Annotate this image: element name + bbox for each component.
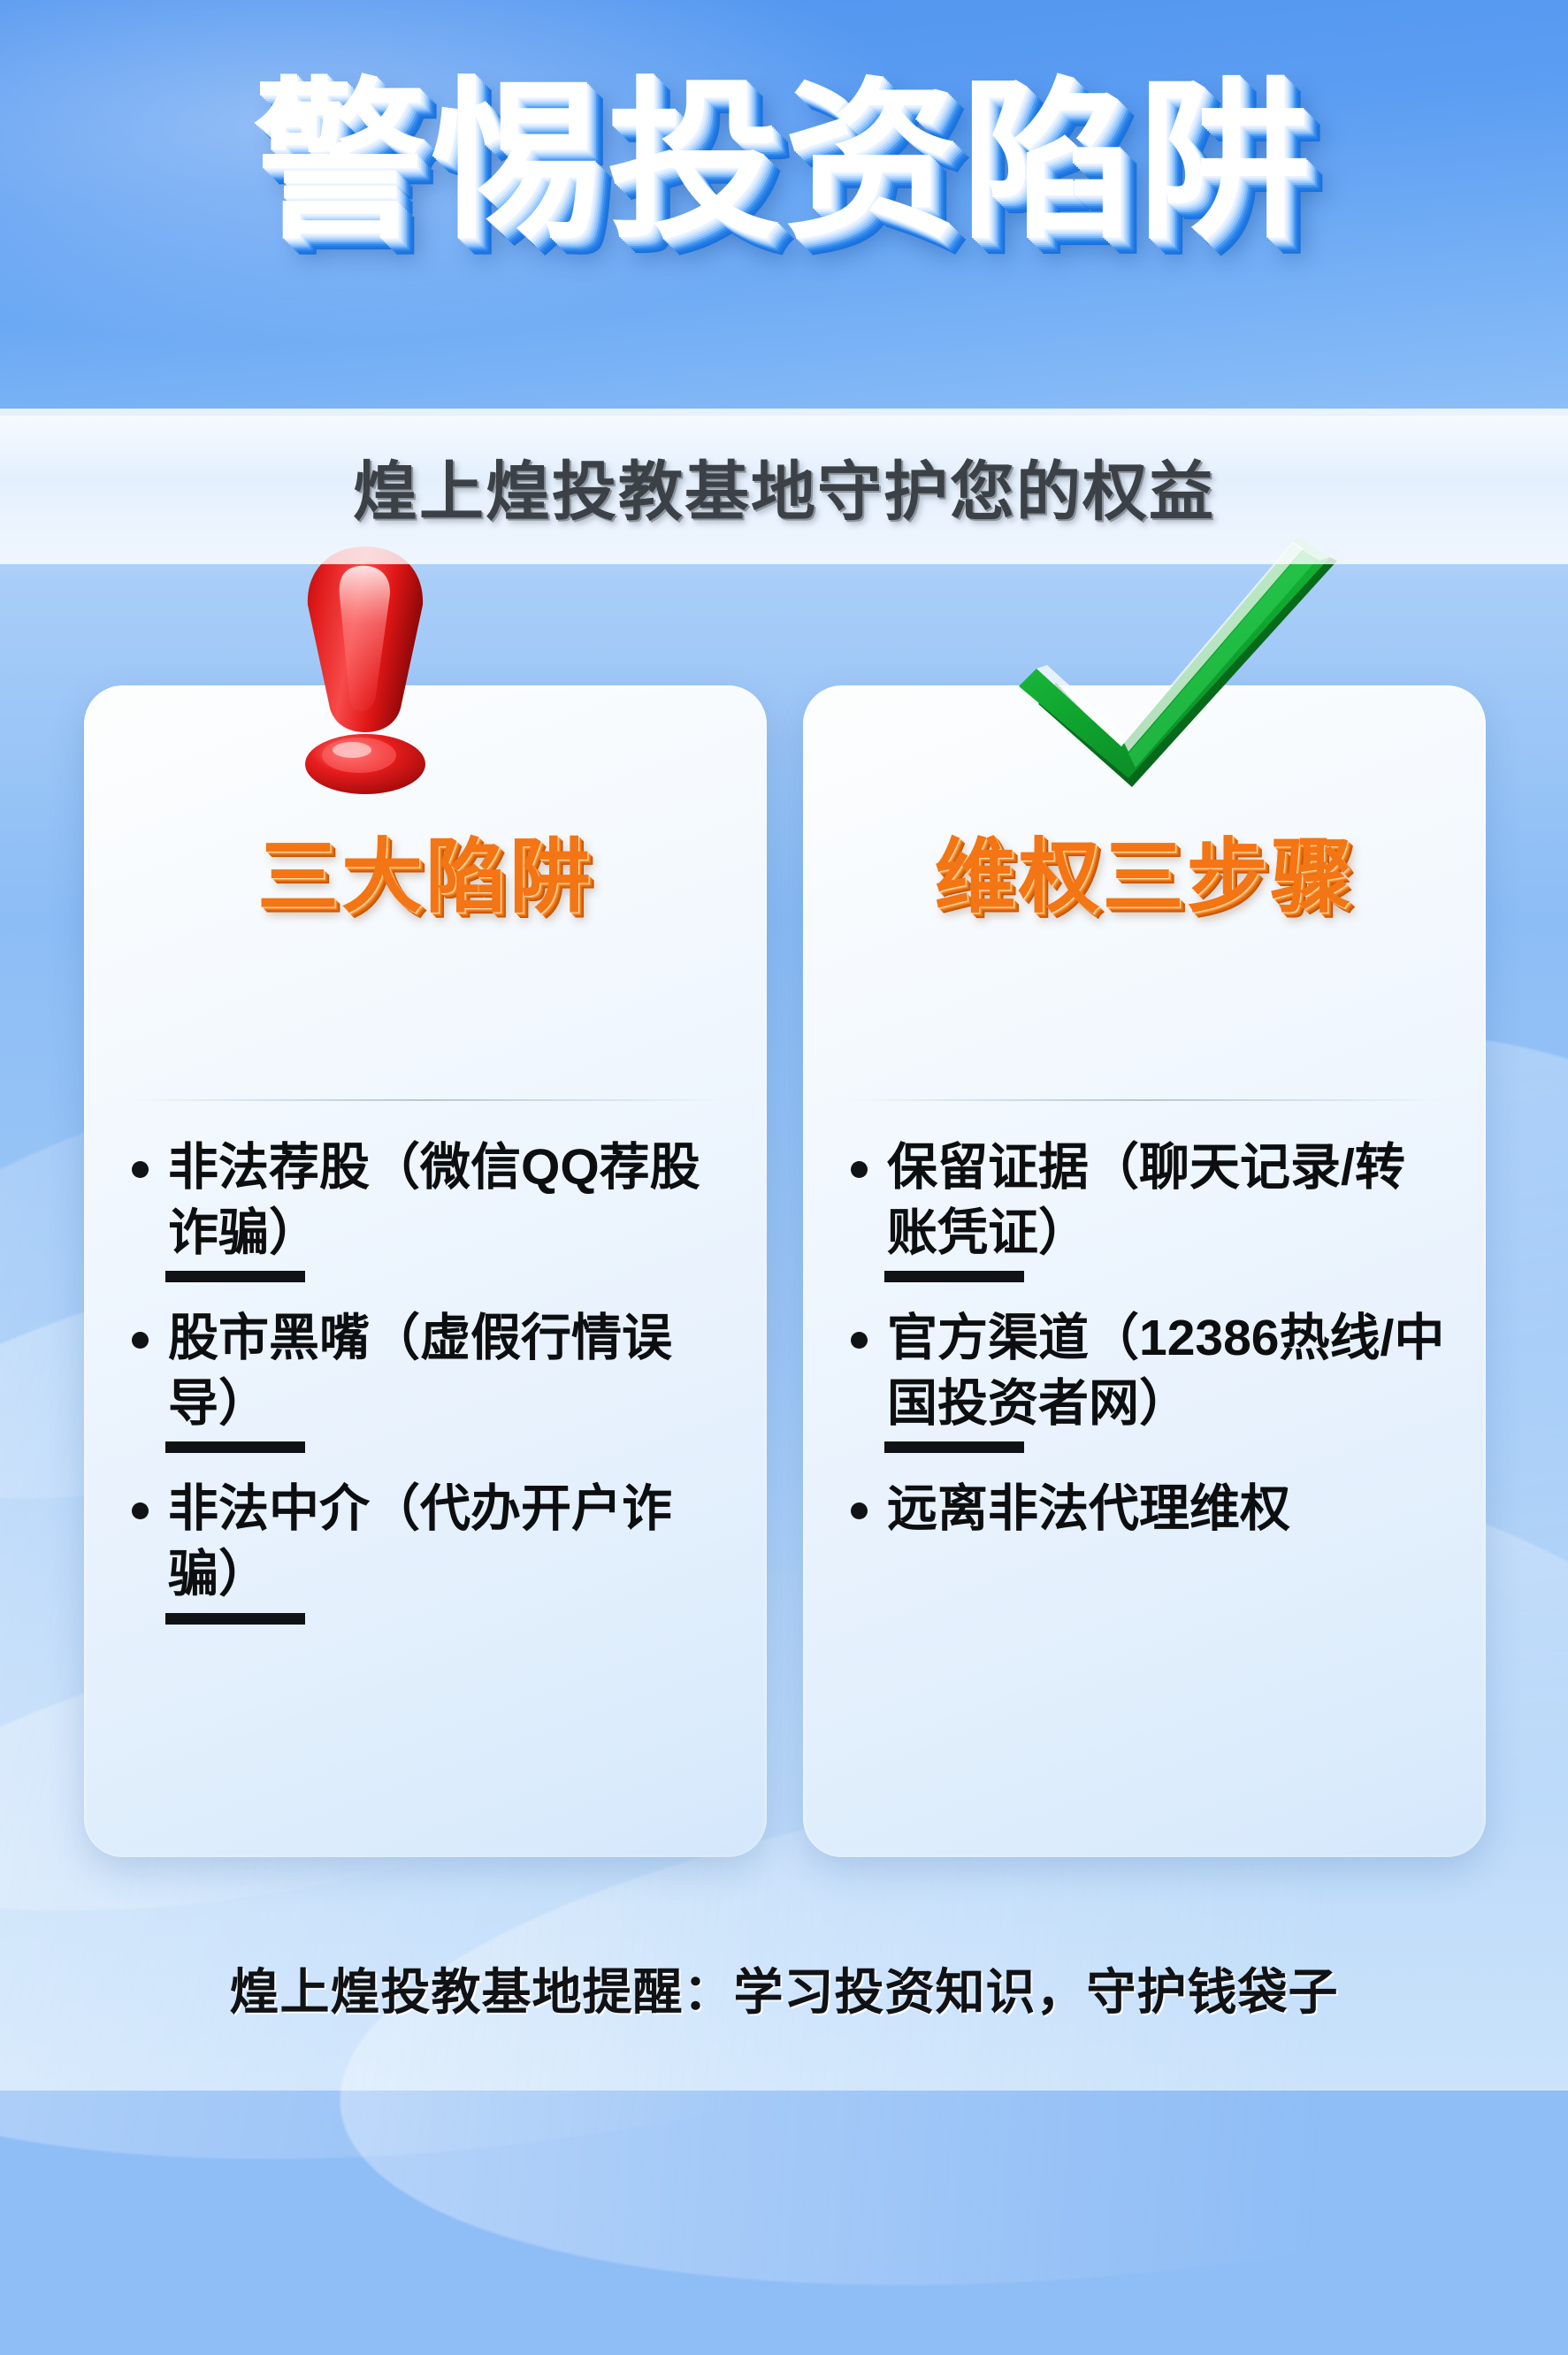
card-traps: 三大陷阱 非法荐股（微信QQ荐股诈骗） 股市黑嘴（虚假行情误导）	[84, 685, 767, 1857]
list-item: 非法中介（代办开户诈骗）	[123, 1476, 728, 1624]
list-item: 股市黑嘴（虚假行情误导）	[123, 1305, 728, 1453]
list-item: 非法荐股（微信QQ荐股诈骗）	[123, 1135, 728, 1282]
list-item-label: 非法荐股（微信QQ荐股诈骗）	[168, 1135, 728, 1265]
list-item-label: 保留证据（聊天记录/转账凭证）	[887, 1135, 1447, 1265]
card-traps-title: 三大陷阱	[84, 811, 767, 929]
list-item-rule	[884, 1441, 1024, 1453]
subtitle-band: 煌上煌投教基地守护您的权益	[0, 409, 1568, 564]
cards-container: 三大陷阱 非法荐股（微信QQ荐股诈骗） 股市黑嘴（虚假行情误导）	[0, 0, 1568, 2091]
footer-reminder: 煌上煌投教基地提醒：学习投资知识，守护钱袋子	[0, 1953, 1568, 2024]
list-item-rule	[165, 1441, 305, 1453]
list-item: 官方渠道（12386热线/中国投资者网）	[842, 1305, 1447, 1453]
page-title: 警惕投资陷阱	[0, 74, 1568, 251]
list-item-label: 官方渠道（12386热线/中国投资者网）	[887, 1305, 1447, 1436]
list-item-rule	[884, 1271, 1024, 1282]
list-item-label: 股市黑嘴（虚假行情误导）	[168, 1305, 728, 1436]
bullet-dot-icon	[851, 1332, 868, 1349]
card-rights-steps-divider	[844, 1099, 1445, 1101]
bullet-dot-icon	[851, 1502, 868, 1519]
bullet-dot-icon	[132, 1161, 149, 1178]
page-subtitle: 煌上煌投教基地守护您的权益	[353, 440, 1215, 533]
bullet-dot-icon	[132, 1332, 149, 1349]
card-rights-steps-title: 维权三步骤	[803, 811, 1486, 929]
list-item: 保留证据（聊天记录/转账凭证）	[842, 1135, 1447, 1282]
exclamation-mark-icon	[24, 531, 707, 796]
list-item: 远离非法代理维权	[842, 1476, 1447, 1541]
list-item-label: 非法中介（代办开户诈骗）	[168, 1476, 728, 1607]
check-mark-icon	[838, 531, 1521, 796]
list-item-rule	[165, 1271, 305, 1282]
card-traps-divider	[125, 1099, 726, 1101]
card-rights-steps-list: 保留证据（聊天记录/转账凭证） 官方渠道（12386热线/中国投资者网） 远离非…	[803, 1135, 1486, 1556]
bullet-dot-icon	[132, 1502, 149, 1519]
list-item-label: 远离非法代理维权	[887, 1476, 1290, 1541]
card-traps-list: 非法荐股（微信QQ荐股诈骗） 股市黑嘴（虚假行情误导） 非法中介（代办开户诈骗）	[84, 1135, 767, 1648]
list-item-rule	[165, 1613, 305, 1625]
bullet-dot-icon	[851, 1161, 868, 1178]
card-rights-steps: 维权三步骤 保留证据（聊天记录/转账凭证） 官方渠道（12386热线/中国投资者…	[803, 685, 1486, 1857]
